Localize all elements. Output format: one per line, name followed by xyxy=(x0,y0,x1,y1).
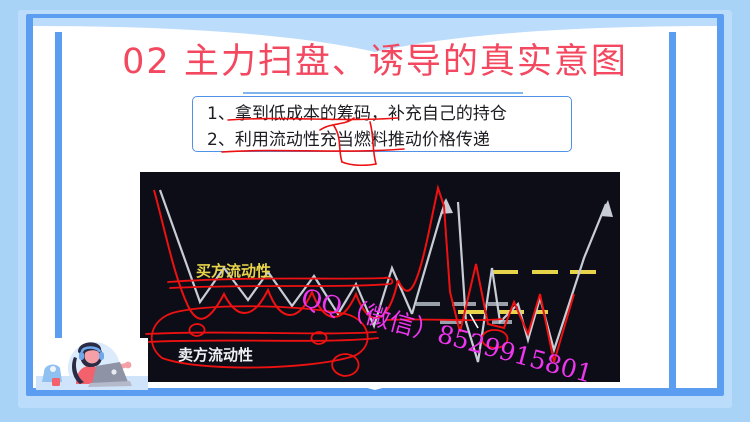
slide-root: 02 主力扫盘、诱导的真实意图 1、拿到低成本的筹码，补充自己的持仓 2、利用流… xyxy=(0,0,750,422)
page-title: 02 主力扫盘、诱导的真实意图 xyxy=(0,40,750,84)
illustration-woman-at-laptop xyxy=(36,338,148,390)
label-buy-liquidity: 买方流动性 xyxy=(196,260,271,281)
bullet-item-1: 1、拿到低成本的筹码，补充自己的持仓 xyxy=(207,101,561,127)
label-sell-liquidity: 卖方流动性 xyxy=(178,344,253,365)
sell-sweep-line xyxy=(146,332,376,334)
title-underline xyxy=(243,92,523,94)
book-spine-right xyxy=(669,32,676,388)
bullet-textbox: 1、拿到低成本的筹码，补充自己的持仓 2、利用流动性充当燃料推动价格传递 xyxy=(192,96,572,152)
book-spine-left xyxy=(55,32,62,388)
bullet-item-2: 2、利用流动性充当燃料推动价格传递 xyxy=(207,127,561,153)
